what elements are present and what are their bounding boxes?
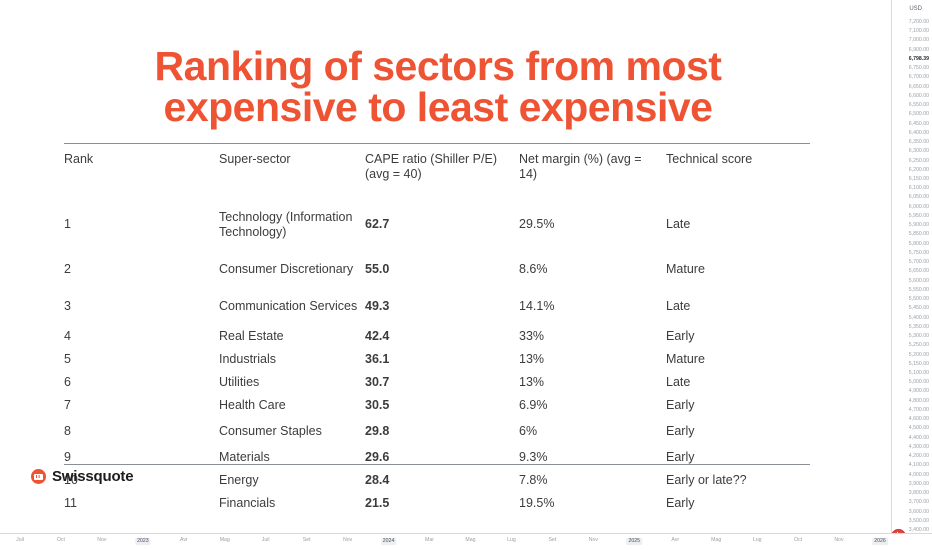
- table-row: 10Energy28.47.8%Early or late??: [64, 469, 810, 492]
- time-axis-tick: Mag: [220, 538, 230, 543]
- price-axis-tick: 5,650.00: [909, 269, 929, 274]
- price-axis-tick: 4,500.00: [909, 426, 929, 431]
- price-axis-tick: 7,200.00: [909, 20, 929, 25]
- cell-technical: Late: [666, 199, 810, 251]
- price-axis-tick: 3,500.00: [909, 519, 929, 524]
- price-axis-tick: 5,200.00: [909, 353, 929, 358]
- cell-margin: 6%: [519, 417, 666, 446]
- table-row: 2Consumer Discretionary55.08.6%Mature: [64, 251, 810, 288]
- time-axis-tick: Nov: [97, 538, 106, 543]
- price-axis-current-value: 6,798.39: [909, 57, 929, 62]
- time-axis-tick: Nov: [343, 538, 352, 543]
- price-axis-tick: 6,050.00: [909, 195, 929, 200]
- time-axis-tick: Oct: [794, 538, 802, 543]
- cell-rank: 3: [64, 288, 219, 325]
- price-axis-tick: 5,700.00: [909, 260, 929, 265]
- price-axis-tick: 3,800.00: [909, 491, 929, 496]
- cell-cape: 36.1: [365, 348, 519, 371]
- price-axis-tick: 5,300.00: [909, 334, 929, 339]
- price-axis-tick: 6,750.00: [909, 66, 929, 71]
- cell-technical: Early: [666, 492, 810, 515]
- cell-sector: Technology (Information Technology): [219, 199, 365, 251]
- column-header-sector: Super-sector: [219, 152, 365, 199]
- table-row: 8Consumer Staples29.86%Early: [64, 417, 810, 446]
- cell-cape: 62.7: [365, 199, 519, 251]
- price-axis-tick: 6,150.00: [909, 177, 929, 182]
- price-axis-tick: 6,200.00: [909, 168, 929, 173]
- time-axis-tick: Mar: [425, 538, 434, 543]
- price-axis-tick: 5,850.00: [909, 232, 929, 237]
- time-axis-year-tick: 2026: [872, 538, 888, 545]
- cell-sector: Industrials: [219, 348, 365, 371]
- cell-margin: 9.3%: [519, 446, 666, 469]
- cell-margin: 14.1%: [519, 288, 666, 325]
- cell-sector: Real Estate: [219, 325, 365, 348]
- table-bottom-rule: [64, 464, 810, 465]
- price-axis-tick: 6,450.00: [909, 122, 929, 127]
- time-axis-year-tick: 2024: [381, 538, 397, 545]
- time-axis-tick: Lug: [507, 538, 516, 543]
- time-axis-tick: Avr: [180, 538, 188, 543]
- price-axis-tick: 6,900.00: [909, 48, 929, 53]
- cell-technical: Late: [666, 371, 810, 394]
- time-axis-tick: Avr: [671, 538, 679, 543]
- price-axis-tick: 5,450.00: [909, 306, 929, 311]
- table-row: 1Technology (Information Technology)62.7…: [64, 199, 810, 251]
- price-axis-tick: 6,600.00: [909, 94, 929, 99]
- price-axis-tick: 4,600.00: [909, 417, 929, 422]
- cell-cape: 29.6: [365, 446, 519, 469]
- swissquote-logo-icon: [31, 469, 46, 484]
- price-axis-tick: 5,950.00: [909, 214, 929, 219]
- price-axis-tick: 4,800.00: [909, 399, 929, 404]
- cell-technical: Mature: [666, 348, 810, 371]
- cell-technical: Mature: [666, 251, 810, 288]
- time-axis-tick: Juil: [16, 538, 24, 543]
- cell-sector: Energy: [219, 469, 365, 492]
- price-axis-tick: 3,900.00: [909, 482, 929, 487]
- table-row: 6Utilities30.713%Late: [64, 371, 810, 394]
- table-row: 4Real Estate42.433%Early: [64, 325, 810, 348]
- cell-cape: 42.4: [365, 325, 519, 348]
- cell-rank: 7: [64, 394, 219, 417]
- cell-technical: Early or late??: [666, 469, 810, 492]
- price-axis-tick: 4,000.00: [909, 473, 929, 478]
- price-axis-tick: 6,350.00: [909, 140, 929, 145]
- cell-rank: 5: [64, 348, 219, 371]
- price-axis-tick: 6,650.00: [909, 85, 929, 90]
- time-axis-year-tick: 2025: [627, 538, 643, 545]
- price-axis-tick: 5,350.00: [909, 325, 929, 330]
- column-header-rank: Rank: [64, 152, 219, 199]
- cell-rank: 8: [64, 417, 219, 446]
- cell-rank: 9: [64, 446, 219, 469]
- cell-sector: Financials: [219, 492, 365, 515]
- price-axis-tick: 5,150.00: [909, 362, 929, 367]
- price-axis-currency: USD: [909, 6, 922, 12]
- price-axis-tick: 4,900.00: [909, 389, 929, 394]
- column-header-margin: Net margin (%) (avg = 14): [519, 152, 666, 199]
- cell-rank: 11: [64, 492, 219, 515]
- time-axis-tick: Oct: [57, 538, 65, 543]
- table-row: 7Health Care30.56.9%Early: [64, 394, 810, 417]
- price-axis-tick: 5,900.00: [909, 223, 929, 228]
- time-axis-tick: Mag: [711, 538, 721, 543]
- cell-margin: 8.6%: [519, 251, 666, 288]
- price-axis-tick: 6,100.00: [909, 186, 929, 191]
- table-body: 1Technology (Information Technology)62.7…: [64, 199, 810, 515]
- cell-cape: 21.5: [365, 492, 519, 515]
- price-axis-tick: 7,100.00: [909, 29, 929, 34]
- cell-sector: Consumer Staples: [219, 417, 365, 446]
- price-axis-tick: 5,250.00: [909, 343, 929, 348]
- price-axis-tick: 5,000.00: [909, 380, 929, 385]
- price-axis-tick: 4,300.00: [909, 445, 929, 450]
- time-axis-tick: Set: [303, 538, 311, 543]
- table-row: 9Materials29.69.3%Early: [64, 446, 810, 469]
- table-row: 3Communication Services49.314.1%Late: [64, 288, 810, 325]
- price-axis-tick: 6,700.00: [909, 75, 929, 80]
- cell-margin: 7.8%: [519, 469, 666, 492]
- time-axis-tick: Juil: [262, 538, 270, 543]
- cell-margin: 19.5%: [519, 492, 666, 515]
- price-axis-tick: 5,500.00: [909, 297, 929, 302]
- price-axis-tick: 6,400.00: [909, 131, 929, 136]
- cell-cape: 28.4: [365, 469, 519, 492]
- time-axis-year-tick: 2023: [135, 538, 151, 545]
- cell-cape: 30.5: [365, 394, 519, 417]
- price-axis-tick: 5,100.00: [909, 371, 929, 376]
- cell-cape: 30.7: [365, 371, 519, 394]
- column-header-technical: Technical score: [666, 152, 810, 199]
- cell-technical: Early: [666, 325, 810, 348]
- price-axis-tick: 4,400.00: [909, 436, 929, 441]
- cell-cape: 49.3: [365, 288, 519, 325]
- price-axis-tick: 4,100.00: [909, 463, 929, 468]
- price-axis-tick: 5,750.00: [909, 251, 929, 256]
- cell-rank: 4: [64, 325, 219, 348]
- price-axis-tick: 6,550.00: [909, 103, 929, 108]
- time-axis-tick: Nov: [834, 538, 843, 543]
- cell-margin: 13%: [519, 348, 666, 371]
- ranking-panel: Ranking of sectors from most expensive t…: [0, 0, 880, 500]
- price-axis[interactable]: USD7,200.007,100.007,000.006,900.006,798…: [891, 0, 932, 534]
- price-axis-tick: 5,400.00: [909, 316, 929, 321]
- cell-margin: 29.5%: [519, 199, 666, 251]
- page-title: Ranking of sectors from most expensive t…: [64, 46, 812, 128]
- cell-technical: Late: [666, 288, 810, 325]
- cell-cape: 29.8: [365, 417, 519, 446]
- column-header-cape: CAPE ratio (Shiller P/E) (avg = 40): [365, 152, 519, 199]
- price-axis-tick: 6,500.00: [909, 112, 929, 117]
- cell-sector: Health Care: [219, 394, 365, 417]
- cell-sector: Utilities: [219, 371, 365, 394]
- table-row: 5Industrials36.113%Mature: [64, 348, 810, 371]
- table-row: 11Financials21.519.5%Early: [64, 492, 810, 515]
- price-axis-tick: 5,800.00: [909, 242, 929, 247]
- price-axis-tick: 6,250.00: [909, 159, 929, 164]
- price-axis-tick: 6,000.00: [909, 205, 929, 210]
- price-axis-tick: 4,200.00: [909, 454, 929, 459]
- price-axis-tick: 7,000.00: [909, 38, 929, 43]
- cell-technical: Early: [666, 446, 810, 469]
- cell-rank: 6: [64, 371, 219, 394]
- cell-margin: 6.9%: [519, 394, 666, 417]
- time-axis-tick: Mag: [465, 538, 475, 543]
- time-axis-tick: Set: [548, 538, 556, 543]
- cell-rank: 1: [64, 199, 219, 251]
- time-axis-tick: Lug: [753, 538, 762, 543]
- cell-technical: Early: [666, 417, 810, 446]
- cell-rank: 2: [64, 251, 219, 288]
- cell-technical: Early: [666, 394, 810, 417]
- price-axis-tick: 3,700.00: [909, 500, 929, 505]
- cell-sector: Communication Services: [219, 288, 365, 325]
- price-axis-tick: 4,700.00: [909, 408, 929, 413]
- cell-sector: Materials: [219, 446, 365, 469]
- brand-logo: Swissquote: [31, 468, 133, 485]
- sector-ranking-table: Rank Super-sector CAPE ratio (Shiller P/…: [64, 152, 810, 515]
- cell-sector: Consumer Discretionary: [219, 251, 365, 288]
- price-axis-tick: 5,550.00: [909, 288, 929, 293]
- table-header-row: Rank Super-sector CAPE ratio (Shiller P/…: [64, 152, 810, 199]
- cell-margin: 13%: [519, 371, 666, 394]
- time-axis-tick: Nov: [589, 538, 598, 543]
- price-axis-tick: 3,600.00: [909, 510, 929, 515]
- cell-cape: 55.0: [365, 251, 519, 288]
- table-top-rule: [64, 143, 810, 144]
- price-axis-tick: 5,600.00: [909, 279, 929, 284]
- cell-margin: 33%: [519, 325, 666, 348]
- brand-name: Swissquote: [52, 468, 133, 485]
- price-axis-tick: 6,300.00: [909, 149, 929, 154]
- time-axis[interactable]: JuilOctNov2023AvrMagJuilSetNov2024MarMag…: [0, 533, 932, 550]
